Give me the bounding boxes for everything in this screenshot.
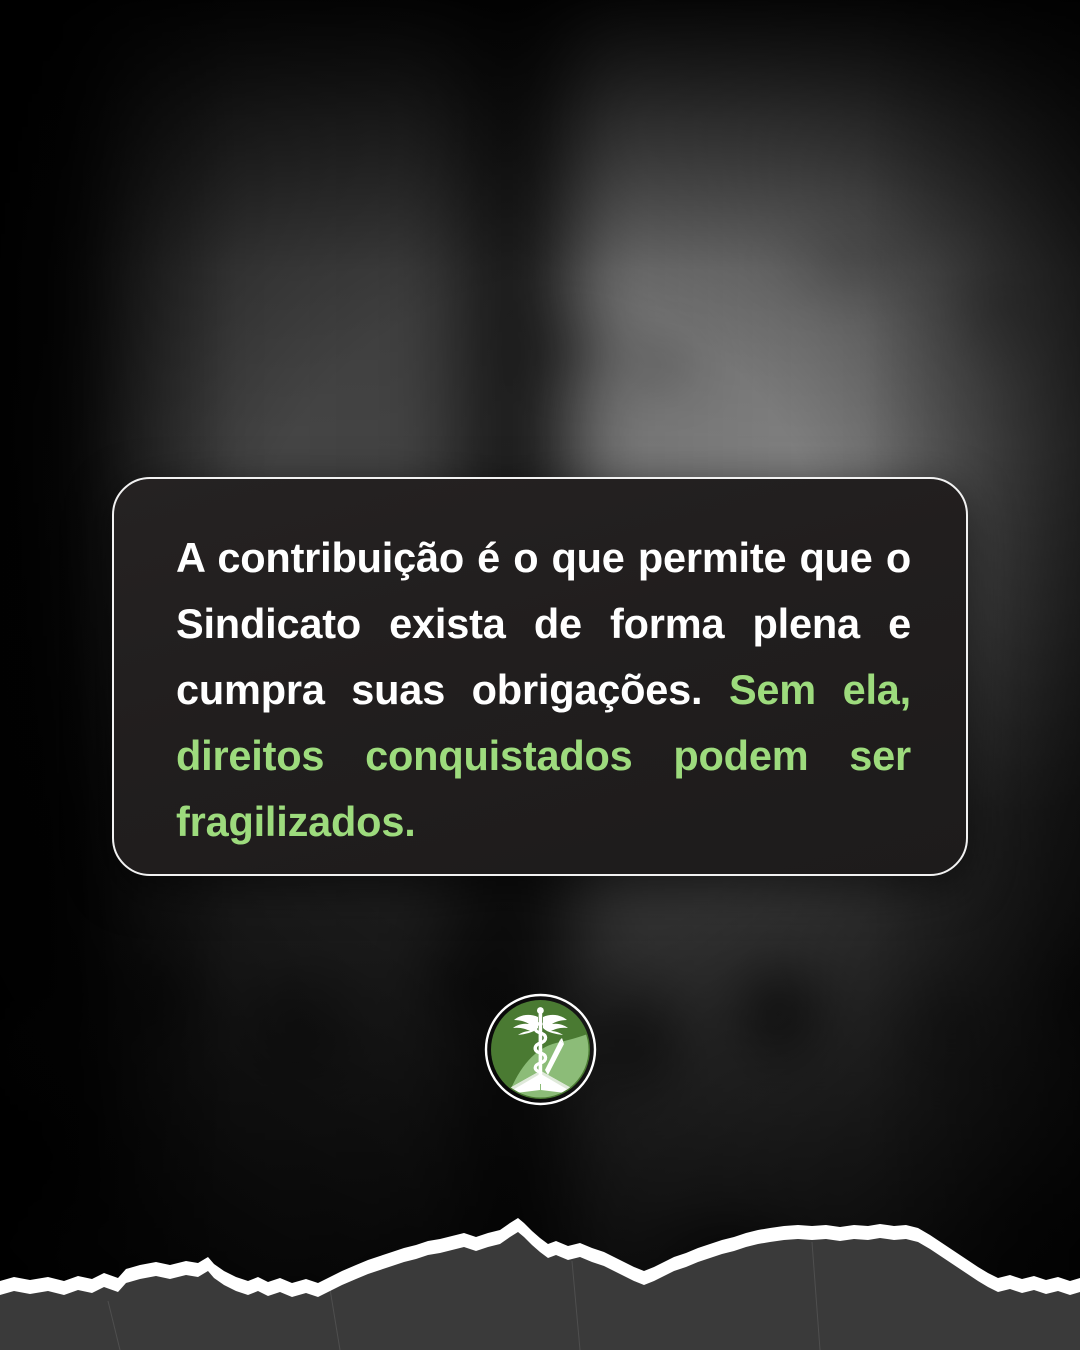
brand-logo[interactable]	[484, 993, 597, 1106]
quote-text: A contribuição é o que permite que o Sin…	[176, 525, 911, 855]
quote-card: A contribuição é o que permite que o Sin…	[112, 477, 968, 876]
torn-paper-divider	[0, 1215, 1080, 1350]
social-post-canvas: A contribuição é o que permite que o Sin…	[0, 0, 1080, 1350]
